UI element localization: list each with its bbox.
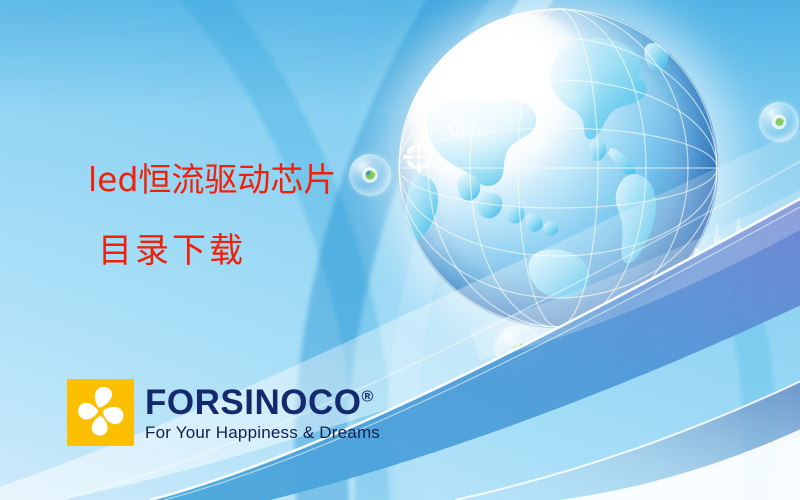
- registered-trademark-icon: ®: [361, 388, 373, 405]
- bubble-sprout-icon: [495, 325, 541, 371]
- earth-globe: [398, 8, 718, 328]
- brand-tagline: For Your Happiness & Dreams: [145, 423, 380, 443]
- bubble-globe-icon: [349, 154, 391, 196]
- flower-sparkle-icon: [447, 118, 467, 143]
- city-skyline-silhouette-icon: [680, 218, 800, 308]
- globe-continents-icon: [398, 8, 718, 328]
- forsinoco-pinwheel-icon: [67, 379, 134, 446]
- bubble-edge-icon: [759, 102, 799, 142]
- brand-logo: FORSINOCO® For Your Happiness & Dreams: [67, 379, 380, 446]
- globe-grid-lines-icon: [398, 8, 718, 328]
- globe-highlight: [404, 8, 602, 194]
- brand-name: FORSINOCO®: [145, 386, 380, 420]
- brand-name-text: FORSINOCO: [145, 383, 361, 422]
- page-title-line2: 目录下载: [98, 234, 246, 268]
- flower-sparkle-icon: [403, 141, 435, 178]
- globe-halo: [378, 0, 738, 348]
- page-title-line1: led恒流驱动芯片: [88, 163, 336, 196]
- globe-leaf-icon: [769, 112, 790, 133]
- globe-leaf-icon: [359, 164, 381, 186]
- green-sprout-icon: [506, 336, 530, 360]
- poster-canvas: led恒流驱动芯片 目录下载 FORSINOCO® For Your Happi…: [0, 0, 800, 500]
